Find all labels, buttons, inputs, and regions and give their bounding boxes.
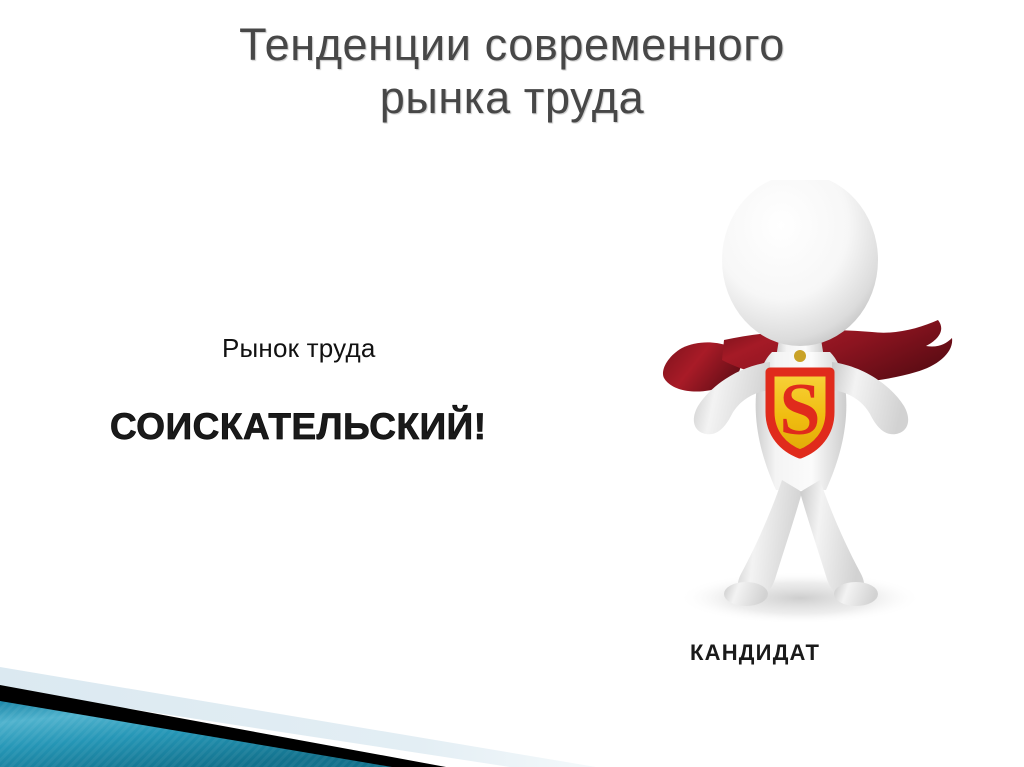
page-title: Тенденции современного рынка труда xyxy=(120,18,904,124)
candidate-caption: КАНДИДАТ xyxy=(690,640,820,666)
pale-blue-band xyxy=(0,667,596,767)
ground-shadow xyxy=(678,572,922,624)
market-value: СОИСКАТЕЛЬСКИЙ! xyxy=(110,406,487,448)
black-stripe xyxy=(0,685,446,767)
cape-clasp xyxy=(794,350,806,362)
market-label: Рынок труда xyxy=(222,333,376,364)
head xyxy=(722,180,878,346)
teal-band xyxy=(0,701,392,767)
superhero-figure-illustration: S xyxy=(620,180,980,630)
presentation-slide: Тенденции современного рынка труда Рынок… xyxy=(0,0,1024,767)
left-foot xyxy=(724,582,768,606)
teal-band-texture xyxy=(0,701,392,767)
right-foot xyxy=(834,582,878,606)
emblem-letter: S xyxy=(779,369,820,451)
